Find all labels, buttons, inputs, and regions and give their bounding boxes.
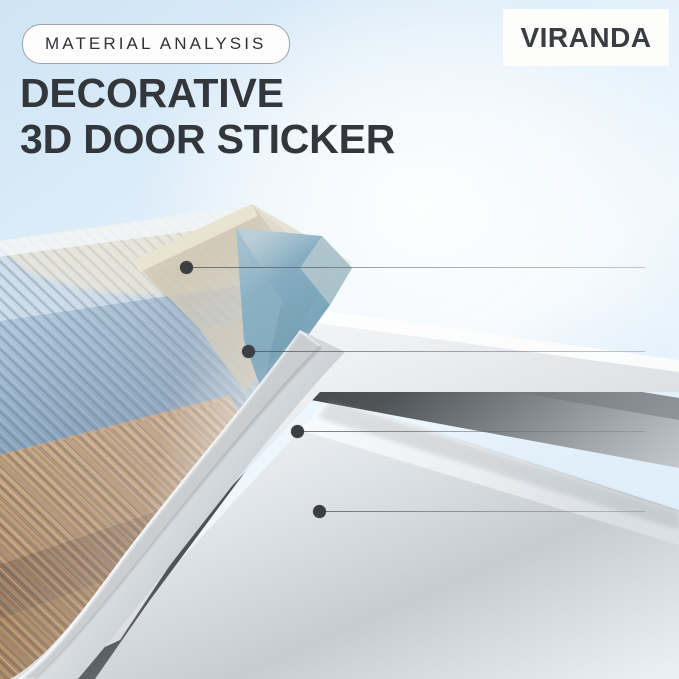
callout-dot-3 bbox=[291, 425, 304, 438]
callout-leader-line-1 bbox=[192, 267, 645, 268]
callout-leader-line-2 bbox=[254, 351, 645, 352]
eyebrow-badge: MATERIAL ANALYSIS bbox=[22, 24, 290, 64]
brand-logo: VIRANDA bbox=[503, 9, 669, 66]
brand-name: VIRANDA bbox=[520, 22, 651, 54]
title-line-1: DECORATIVE bbox=[20, 70, 284, 116]
page-title: DECORATIVE 3D DOOR STICKER bbox=[20, 70, 490, 163]
infographic-canvas: MATERIAL ANALYSIS DECORATIVE 3D DOOR STI… bbox=[0, 0, 679, 679]
eyebrow-label: MATERIAL ANALYSIS bbox=[45, 34, 267, 54]
title-line-2: 3D DOOR STICKER bbox=[20, 116, 490, 162]
callout-leader-line-4 bbox=[325, 511, 645, 512]
callout-dot-1 bbox=[180, 261, 193, 274]
callout-leader-line-3 bbox=[303, 431, 645, 432]
callout-dot-4 bbox=[313, 505, 326, 518]
callout-dot-2 bbox=[242, 345, 255, 358]
